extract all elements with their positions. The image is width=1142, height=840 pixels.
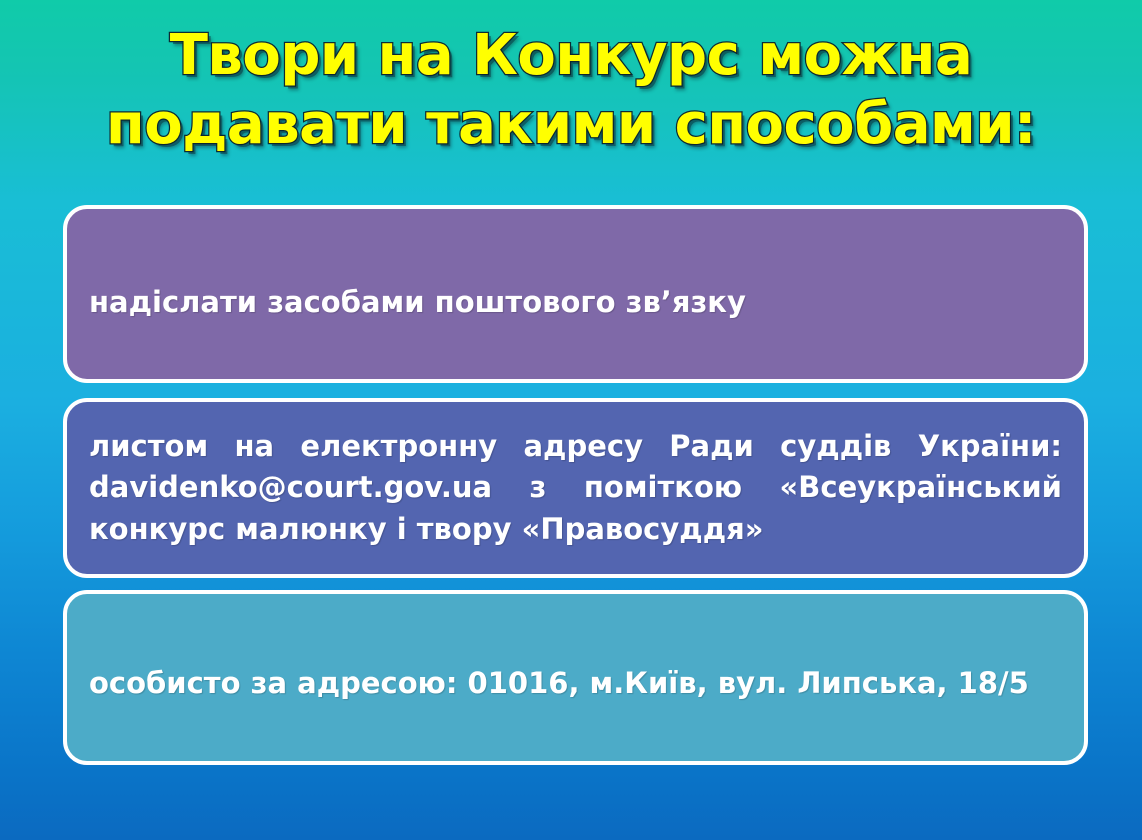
submission-method-email: листом на електронну адресу Ради суддів … xyxy=(63,398,1088,578)
submission-method-in-person-text: особисто за адресою: 01016, м.Київ, вул.… xyxy=(67,663,1084,704)
slide-title-line-1: Твори на Конкурс можна xyxy=(0,26,1142,85)
submission-method-email-text: листом на електронну адресу Ради суддів … xyxy=(67,426,1084,550)
submission-method-postal: надіслати засобами поштового зв’язку xyxy=(63,205,1088,383)
submission-method-postal-text: надіслати засобами поштового зв’язку xyxy=(67,264,1084,323)
presentation-slide: Твори на Конкурс можна подавати такими с… xyxy=(0,0,1142,840)
submission-method-in-person: особисто за адресою: 01016, м.Київ, вул.… xyxy=(63,590,1088,765)
slide-title-line-2: подавати такими способами: xyxy=(0,95,1142,154)
slide-title: Твори на Конкурс можна подавати такими с… xyxy=(0,26,1142,155)
